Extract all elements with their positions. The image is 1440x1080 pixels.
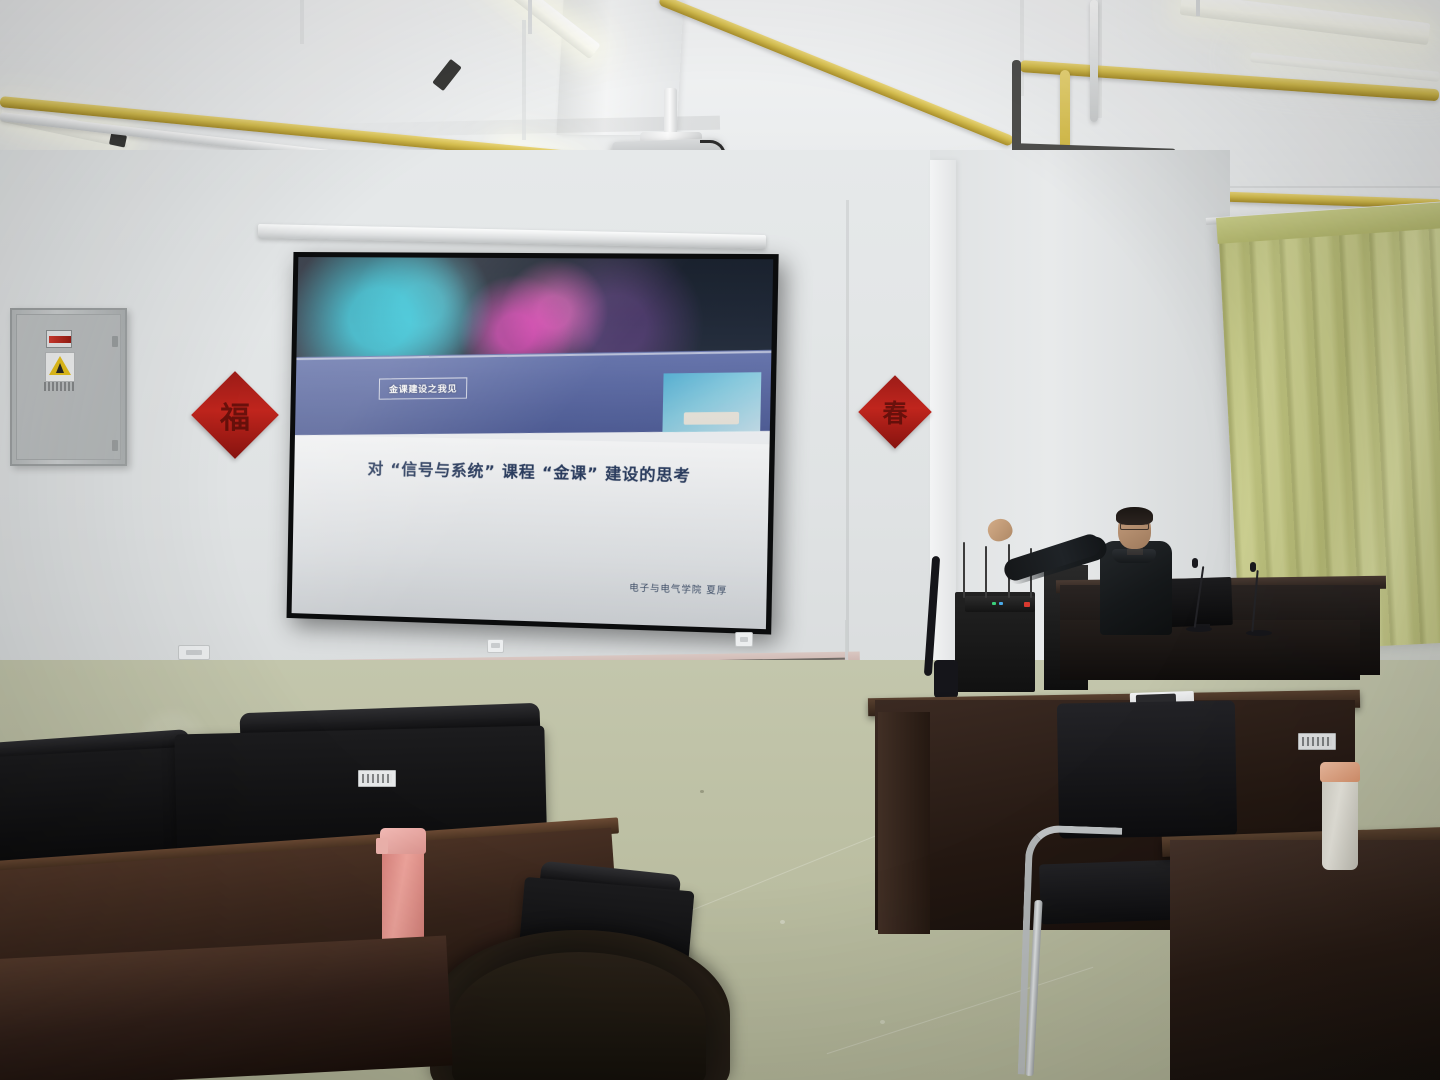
floor-speck-4: [880, 1020, 885, 1024]
new-year-diamond-left: 福: [191, 371, 279, 459]
floor-speck-2: [780, 920, 785, 924]
slide-tag-label: 金课建设之我见: [378, 378, 467, 400]
microphone-1-base: [1186, 626, 1212, 632]
lecture-hall-photo: 福 春 金课建设之我见 对 “信号与系统” 课程 “金课” 建设的思考 电子与电…: [0, 0, 1440, 1080]
ceiling-light-5-stem: [1196, 0, 1200, 16]
bench-desk-front-left: [0, 935, 453, 1080]
panel-meter-display: [46, 330, 72, 348]
high-voltage-warning-icon: [49, 356, 71, 375]
av-cable-mic-stand: [934, 660, 958, 698]
right-desk-body: [1170, 840, 1440, 1080]
receiver-led-red: [1024, 602, 1030, 607]
cream-thermos-bottle-cap: [1320, 762, 1360, 782]
receiver-led-green: [992, 602, 996, 605]
presenter: [1086, 505, 1178, 633]
ceiling-light-2-stem: [528, 0, 532, 34]
audience-hair-foreground: [452, 952, 706, 1080]
microphone-1-head: [1192, 558, 1198, 568]
panel-label-text: [44, 382, 76, 391]
new-year-diamond-right-glyph: 春: [869, 386, 921, 438]
pink-thermos-bottle-clip: [376, 838, 388, 854]
microphone-2-base: [1246, 630, 1272, 636]
new-year-diamond-left-glyph: 福: [204, 384, 266, 446]
wall-corner-edge: [846, 200, 849, 670]
presentation-slide: 金课建设之我见 对 “信号与系统” 课程 “金课” 建设的思考 电子与电气学院 …: [292, 257, 774, 629]
presenter-glasses: [1120, 523, 1149, 530]
slide-header-thumbnail: [662, 373, 761, 433]
wall-outlet-3[interactable]: [735, 632, 753, 647]
projection-screen-surface: 金课建设之我见 对 “信号与系统” 课程 “金课” 建设的思考 电子与电气学院 …: [292, 257, 774, 629]
wall-outlet-2[interactable]: [487, 639, 504, 653]
slide-title: 对 “信号与系统” 课程 “金课” 建设的思考: [294, 455, 769, 488]
slide-body: 对 “信号与系统” 课程 “金课” 建设的思考 电子与电气学院 夏厚: [292, 435, 770, 629]
receiver-antenna-2: [985, 546, 987, 598]
receiver-led-blue: [999, 602, 1003, 605]
seat-number-plate-right: [1298, 733, 1336, 750]
ceiling-hanger-1: [522, 20, 526, 140]
new-year-diamond-right: 春: [858, 375, 932, 449]
ceiling-hanger-4: [1098, 0, 1102, 118]
receiver-antenna-1: [963, 542, 965, 598]
panel-hinge-bottom: [112, 440, 118, 451]
projection-screen: 金课建设之我见 对 “信号与系统” 课程 “金课” 建设的思考 电子与电气学院 …: [287, 252, 779, 635]
slide-footer: 电子与电气学院 夏厚: [629, 580, 727, 596]
microphone-2-head: [1250, 562, 1256, 572]
conduit-ceiling-right: [1090, 0, 1098, 122]
floor-speck-1: [700, 790, 704, 793]
front-desk-leg: [878, 712, 930, 934]
panel-hinge-top: [112, 336, 118, 347]
cream-thermos-bottle-body: [1322, 776, 1358, 870]
seat-number-plate-center: [358, 770, 396, 787]
ceiling-hanger-2: [300, 0, 304, 44]
audience-chair-back-right[interactable]: [1057, 700, 1237, 838]
wall-outlet-1[interactable]: [178, 645, 210, 660]
